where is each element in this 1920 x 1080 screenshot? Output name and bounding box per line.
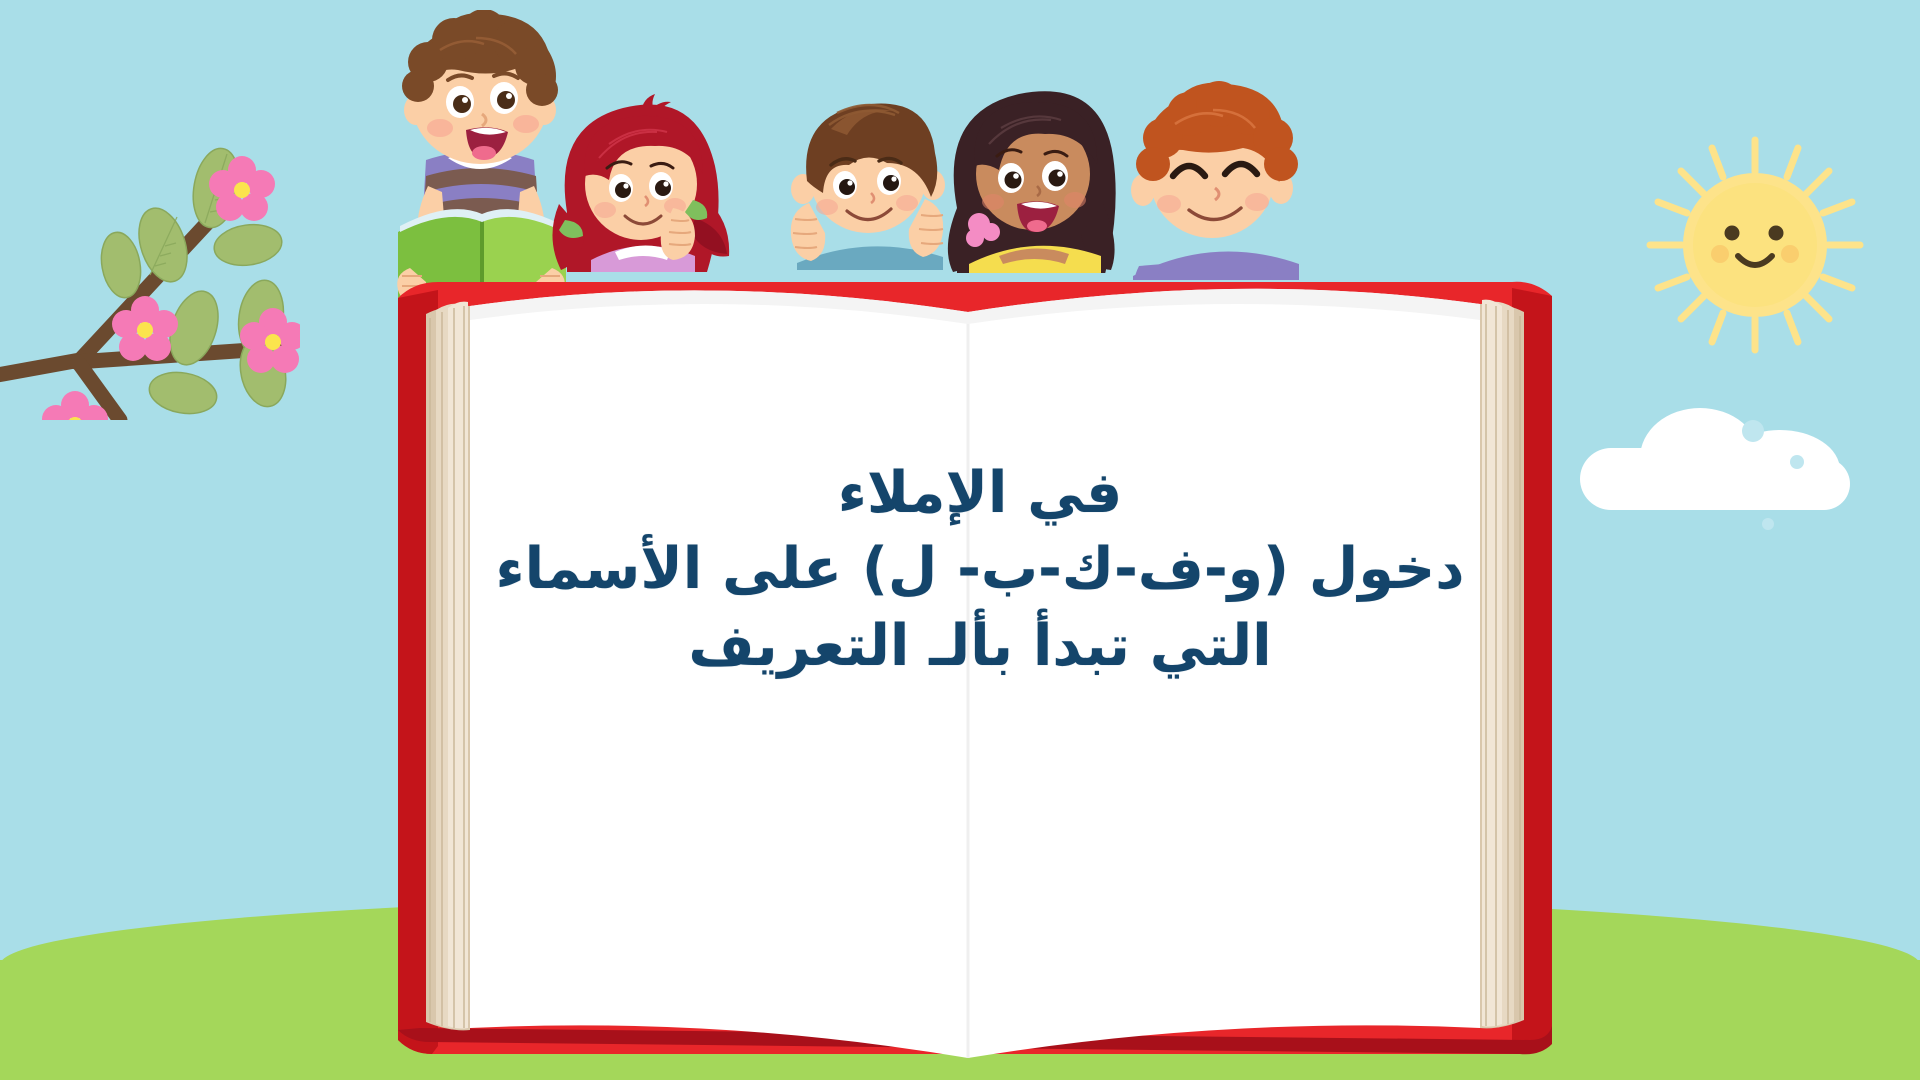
cloud-bubble-2 — [1790, 455, 1804, 469]
cloud-bubble-3 — [1762, 518, 1774, 530]
child-boy-ginger-hair — [1115, 80, 1315, 280]
lesson-line-3: التي تبدأ بألـ التعريف — [420, 608, 1540, 684]
child-girl-dark-hair — [935, 78, 1130, 273]
lesson-line-1: في الإملاء — [420, 455, 1540, 531]
lesson-line-2: دخول (و-ف-ك-ب- ل) على الأسماء — [420, 531, 1540, 607]
slide-scene: في الإملاء دخول (و-ف-ك-ب- ل) على الأسماء… — [0, 0, 1920, 1080]
lesson-text-block: في الإملاء دخول (و-ف-ك-ب- ل) على الأسماء… — [420, 455, 1540, 684]
cloud-icon — [1580, 400, 1890, 510]
child-girl-red-hair — [545, 92, 745, 272]
children-group — [0, 0, 1920, 320]
cloud-bubble-1 — [1742, 420, 1764, 442]
